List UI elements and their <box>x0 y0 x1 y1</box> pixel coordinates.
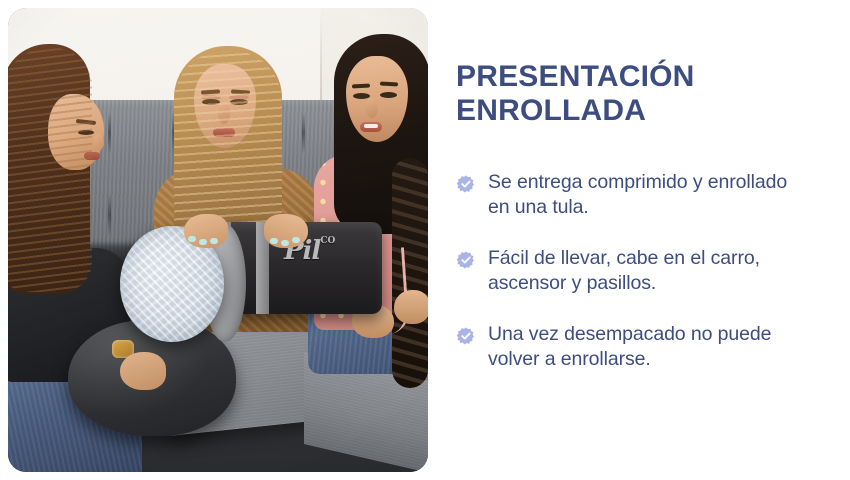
person-right-eye-right <box>380 92 397 98</box>
list-item: Se entrega comprimido y enrollado en una… <box>456 170 796 220</box>
duffel-logo-superscript: CO <box>320 236 335 246</box>
product-photo: PilCO <box>8 8 428 472</box>
person-right-brow-right <box>380 82 398 87</box>
person-middle-hand-left <box>184 214 228 248</box>
feature-list: Se entrega comprimido y enrollado en una… <box>456 170 796 372</box>
check-badge-icon <box>456 326 476 346</box>
page-title-line-1: PRESENTACIÓN <box>456 60 796 94</box>
text-panel: PRESENTACIÓN ENROLLADA Se entrega compri… <box>456 0 836 480</box>
list-item-label: Se entrega comprimido y enrollado en una… <box>488 170 796 220</box>
promo-card: PilCO PRESENTACIÓN ENROLLADA <box>0 0 850 480</box>
person-right-nose <box>366 98 378 118</box>
check-badge-icon <box>456 174 476 194</box>
person-right-teeth <box>364 124 378 128</box>
list-item: Una vez desempacado no puede volver a en… <box>456 322 796 372</box>
person-right-hand-upper <box>394 290 428 324</box>
person-left-hair-strands <box>8 48 92 292</box>
page-title-line-2: ENROLLADA <box>456 94 796 128</box>
list-item-label: Fácil de llevar, cabe en el carro, ascen… <box>488 246 796 296</box>
photo-scene: PilCO <box>8 8 428 472</box>
page-title: PRESENTACIÓN ENROLLADA <box>456 60 796 127</box>
person-middle-hand-right <box>264 214 308 248</box>
list-item-label: Una vez desempacado no puede volver a en… <box>488 322 796 372</box>
list-item: Fácil de llevar, cabe en el carro, ascen… <box>456 246 796 296</box>
person-left-hand <box>120 352 166 390</box>
person-left-nose <box>94 134 104 150</box>
check-badge-icon <box>456 250 476 270</box>
